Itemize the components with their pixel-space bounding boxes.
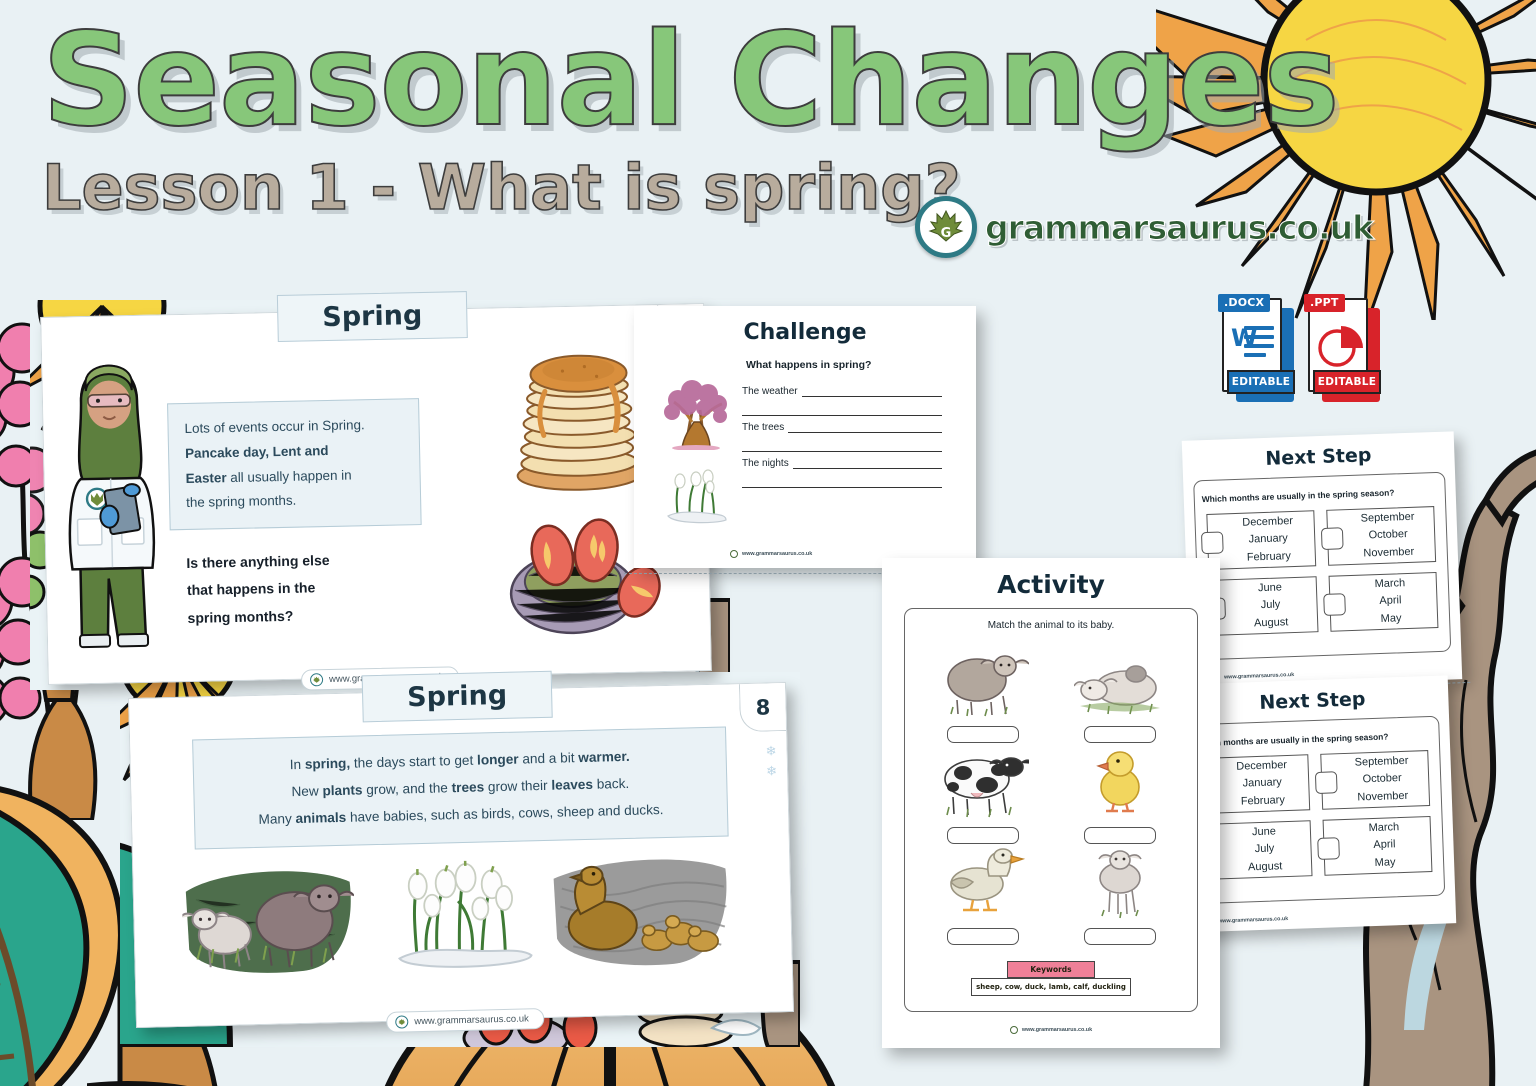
poster-canvas: Seasonal Changes Lesson 1 - What is spri… <box>0 0 1536 1086</box>
challenge-answer-line[interactable] <box>802 384 942 397</box>
docx-editable-label: EDITABLE <box>1227 370 1295 394</box>
animal-cell <box>918 745 1047 844</box>
spring-events-bold1: Pancake day, Lent and <box>185 443 329 461</box>
desc-l2e: grow their <box>484 778 552 795</box>
desc-l3a: Many <box>258 811 295 827</box>
challenge-row: The nights <box>742 456 942 488</box>
spring-question-line3: spring months? <box>187 599 438 632</box>
challenge-row-label: The weather <box>742 386 798 397</box>
next-step-checkbox[interactable] <box>1315 771 1338 794</box>
next-step-checkbox[interactable] <box>1317 837 1340 860</box>
activity-worksheet[interactable]: Activity Match the animal to its baby. <box>882 558 1220 1048</box>
challenge-answer-line[interactable] <box>788 420 942 433</box>
slide-8[interactable]: 8 ❄❄ In spring, the days start to get lo… <box>128 682 794 1028</box>
challenge-worksheet[interactable]: Challenge What happens in spring? <box>634 306 976 568</box>
next-step-title: Next Step <box>1188 686 1437 717</box>
keywords-list: sheep, cow, duck, lamb, calf, duckling <box>971 978 1131 996</box>
desc-l1a: In <box>290 757 305 772</box>
spring-events-textbox: Lots of events occur in Spring. Pancake … <box>167 398 422 530</box>
sheep-and-lamb-image <box>181 862 356 978</box>
next-step-worksheet-1[interactable]: Next Step Which months are usually in th… <box>1182 431 1462 688</box>
month-label: November <box>1357 787 1408 806</box>
slide-8-footer: www.grammarsaurus.co.uk <box>386 1008 544 1033</box>
desc-l1f: warmer. <box>578 749 630 765</box>
animal-cell <box>918 846 1047 945</box>
slide-8-footer-text: www.grammarsaurus.co.uk <box>414 1013 529 1027</box>
spring-description-textbox: In spring, the days start to get longer … <box>192 726 729 849</box>
duck-and-ducklings-image <box>549 850 732 970</box>
challenge-answer-line[interactable] <box>742 397 942 416</box>
next-step-1-footer-text: www.grammarsaurus.co.uk <box>1224 672 1294 680</box>
challenge-row: The weather <box>742 384 942 416</box>
keywords-header: Keywords <box>1007 961 1095 978</box>
month-label: March <box>1368 820 1399 838</box>
lamb-standing-image <box>1074 846 1166 920</box>
ppt-editable-label: EDITABLE <box>1313 370 1381 394</box>
activity-answer-box[interactable] <box>947 928 1019 945</box>
cow-image <box>937 745 1029 819</box>
desc-l2f: leaves <box>551 777 593 793</box>
activity-answer-box[interactable] <box>1084 726 1156 743</box>
month-label: October <box>1362 770 1402 788</box>
ppt-extension-label: .PPT <box>1304 294 1345 312</box>
poster-title-block: Seasonal Changes Lesson 1 - What is spri… <box>42 14 1272 223</box>
grammarsaurus-badge-icon: G <box>915 196 977 258</box>
month-label: July <box>1254 841 1274 859</box>
challenge-footer-text: www.grammarsaurus.co.uk <box>742 551 812 557</box>
next-step-title: Next Step <box>1194 442 1443 473</box>
challenge-rows: The weather The trees The nights <box>742 384 942 488</box>
spring-events-bold2: Easter <box>185 470 226 486</box>
slide-9-title: Spring <box>277 291 468 342</box>
keywords-block: Keywords sheep, cow, duck, lamb, calf, d… <box>882 961 1220 996</box>
animal-cell <box>918 644 1047 743</box>
spring-question-block: Is there anything else that happens in t… <box>186 545 438 632</box>
snowdrops-image <box>391 857 536 972</box>
next-step-checkbox[interactable] <box>1321 527 1344 550</box>
activity-answer-box[interactable] <box>1084 827 1156 844</box>
lamb-lying-image <box>1074 644 1166 718</box>
month-label: April <box>1379 593 1402 611</box>
activity-footer-text: www.grammarsaurus.co.uk <box>1022 1027 1092 1033</box>
docx-editable-badge[interactable]: W .DOCX EDITABLE <box>1222 298 1294 402</box>
spring-events-line1: Lots of events occur in Spring. <box>184 417 364 436</box>
desc-l1e: and a bit <box>518 750 578 766</box>
challenge-row: The trees <box>742 420 942 452</box>
blossom-tree-image <box>664 378 730 450</box>
duckling-image <box>1074 745 1166 819</box>
month-label: June <box>1258 580 1282 598</box>
animal-cell <box>1055 745 1184 844</box>
desc-l2a: New <box>291 784 322 800</box>
desc-l2b: plants <box>322 783 362 799</box>
month-label: April <box>1373 837 1396 855</box>
ppt-editable-badge[interactable]: .PPT EDITABLE <box>1308 298 1380 402</box>
month-label: October <box>1368 526 1408 544</box>
desc-l2d: trees <box>451 780 484 796</box>
month-label: March <box>1374 576 1405 594</box>
month-label: January <box>1248 531 1288 549</box>
grammarsaurus-mini-icon <box>395 1015 408 1028</box>
month-label: February <box>1247 548 1292 567</box>
editable-file-badges: W .DOCX EDITABLE .PPT EDITABLE <box>1222 298 1380 402</box>
animal-cell <box>1055 846 1184 945</box>
month-label: July <box>1260 597 1280 615</box>
month-label: September <box>1354 753 1408 772</box>
challenge-prompt: What happens in spring? <box>746 359 960 371</box>
month-label: May <box>1374 854 1395 872</box>
desc-l1c: the days start to get <box>350 753 477 771</box>
activity-answer-box[interactable] <box>947 827 1019 844</box>
animal-cell <box>1055 644 1184 743</box>
next-step-checkbox[interactable] <box>1201 531 1224 554</box>
month-label: August <box>1254 614 1289 632</box>
slide-number: 8 <box>739 683 786 732</box>
activity-title: Activity <box>900 570 1202 599</box>
snowdrops-image <box>666 468 728 526</box>
activity-answer-box[interactable] <box>1084 928 1156 945</box>
month-label: May <box>1380 610 1401 628</box>
svg-text:G: G <box>941 226 952 241</box>
spring-events-line2: all usually happen in <box>226 467 351 485</box>
desc-l2g: back. <box>593 776 630 792</box>
challenge-footer: www.grammarsaurus.co.uk <box>730 550 812 558</box>
month-label: September <box>1360 509 1414 528</box>
brand-name: grammarsaurus.co.uk <box>985 208 1373 247</box>
slide-9[interactable]: 9 ❄❄ <box>40 303 712 685</box>
month-label: August <box>1248 858 1283 876</box>
activity-answer-box[interactable] <box>947 726 1019 743</box>
spring-events-line3: the spring months. <box>186 493 296 510</box>
desc-l1b: spring, <box>305 756 351 772</box>
page-title: Seasonal Changes <box>42 14 1272 148</box>
month-label: June <box>1252 824 1276 842</box>
month-label: November <box>1363 543 1414 562</box>
month-label: February <box>1241 792 1286 811</box>
month-label: December <box>1242 513 1293 532</box>
brand-logo[interactable]: G grammarsaurus.co.uk <box>915 196 1373 258</box>
activity-instruction: Match the animal to its baby. <box>882 620 1220 631</box>
desc-l1d: longer <box>477 752 519 768</box>
activity-footer: www.grammarsaurus.co.uk <box>882 1026 1220 1034</box>
desc-l3c: have babies, such as birds, cows, sheep … <box>346 802 664 825</box>
month-label: January <box>1242 775 1282 793</box>
next-step-checkbox[interactable] <box>1323 593 1346 616</box>
grammarsaurus-mini-icon <box>310 673 323 686</box>
slide-8-title: Spring <box>362 671 553 723</box>
snowflake-icon: ❄❄ <box>765 741 777 781</box>
sheep-image <box>937 644 1029 718</box>
powerpoint-pie-icon <box>1313 318 1368 374</box>
duck-image <box>937 846 1029 920</box>
desc-l2c: grow, and the <box>362 780 452 797</box>
desc-l3b: animals <box>295 810 346 826</box>
challenge-title: Challenge <box>650 320 960 345</box>
challenge-answer-line[interactable] <box>793 456 942 469</box>
challenge-answer-line[interactable] <box>742 469 942 488</box>
word-document-icon <box>1244 326 1274 362</box>
challenge-row-label: The nights <box>742 458 789 469</box>
challenge-row-label: The trees <box>742 422 784 433</box>
scientist-character-image <box>58 338 164 650</box>
docx-extension-label: .DOCX <box>1218 294 1270 312</box>
challenge-answer-line[interactable] <box>742 433 942 452</box>
next-step-2-footer-text: www.grammarsaurus.co.uk <box>1218 916 1288 924</box>
month-label: December <box>1236 757 1287 776</box>
